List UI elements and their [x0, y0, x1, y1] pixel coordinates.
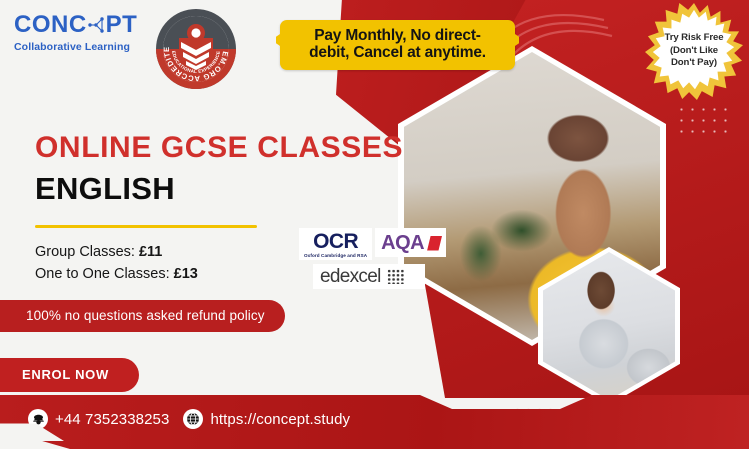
- ribbon-line-2: debit, Cancel at anytime.: [293, 44, 502, 61]
- globe-icon: [183, 409, 203, 429]
- risk-badge-line-2: (Don't Like: [670, 45, 718, 58]
- refund-policy-badge: 100% no questions asked refund policy: [0, 300, 285, 332]
- concept-logo[interactable]: CONC PT Collaborative Learning: [14, 13, 137, 53]
- pricing-amount: £13: [174, 266, 198, 282]
- exam-board-row-top: OCR Oxford Cambridge and RSA AQA: [299, 228, 446, 260]
- ocr-logo-subtitle: Oxford Cambridge and RSA: [304, 253, 367, 258]
- student-celebrating-hexagon-photo-image: [543, 252, 675, 400]
- enrol-now-button[interactable]: ENROL NOW: [0, 358, 139, 392]
- yellow-divider: [35, 225, 257, 228]
- ocr-logo-text: OCR: [313, 231, 358, 252]
- edexcel-logo: edexcel: [313, 264, 425, 289]
- concept-logo-tagline: Collaborative Learning: [14, 41, 137, 53]
- page-title-eyebrow: ONLINE GCSE CLASSES: [35, 132, 403, 164]
- pay-monthly-ribbon: Pay Monthly, No direct- debit, Cancel at…: [280, 20, 515, 70]
- pricing-amount: £11: [139, 244, 162, 260]
- risk-badge-line-1: Try Risk Free: [665, 32, 724, 45]
- dot-grid-decoration: [676, 104, 732, 138]
- try-risk-free-label: Try Risk Free (Don't Like Don't Pay): [645, 2, 743, 100]
- concept-logo-wordmark: CONC PT: [14, 13, 137, 37]
- aqa-logo: AQA: [375, 228, 446, 257]
- molecule-e-icon: [88, 15, 105, 35]
- promo-banner: CONC PT Collaborative Learning: [0, 0, 749, 449]
- website-url: https://concept.study: [210, 411, 350, 428]
- pricing-label: Group Classes:: [35, 244, 135, 260]
- try-risk-free-badge: Try Risk Free (Don't Like Don't Pay): [645, 2, 743, 100]
- ribbon-line-1: Pay Monthly, No direct-: [293, 27, 502, 44]
- page-title-subject: ENGLISH: [35, 172, 403, 205]
- aqa-logo-text: AQA: [381, 233, 424, 253]
- stem-org-accredited-badge: STEM.ORG ACCREDITED EDUCATIONAL EXPERIEN…: [155, 8, 237, 90]
- risk-badge-line-3: Don't Pay): [671, 57, 717, 70]
- website-contact[interactable]: https://concept.study: [183, 409, 350, 429]
- edexcel-grid-icon: [387, 269, 404, 284]
- contact-items: +44 7352338253 https://concept.study: [28, 409, 350, 429]
- concept-logo-text-b: PT: [106, 13, 138, 37]
- exam-board-logos: OCR Oxford Cambridge and RSA AQA edexcel: [299, 228, 446, 289]
- edexcel-logo-text: edexcel: [320, 267, 381, 286]
- contact-footer: +44 7352338253 https://concept.study: [0, 395, 749, 449]
- pricing-label: One to One Classes:: [35, 266, 170, 282]
- concept-logo-text-a: CONC: [14, 13, 87, 37]
- ocr-logo: OCR Oxford Cambridge and RSA: [299, 228, 372, 260]
- aqa-mark-icon: [427, 236, 442, 251]
- phone-number: +44 7352338253: [55, 411, 169, 428]
- phone-contact[interactable]: +44 7352338253: [28, 409, 169, 429]
